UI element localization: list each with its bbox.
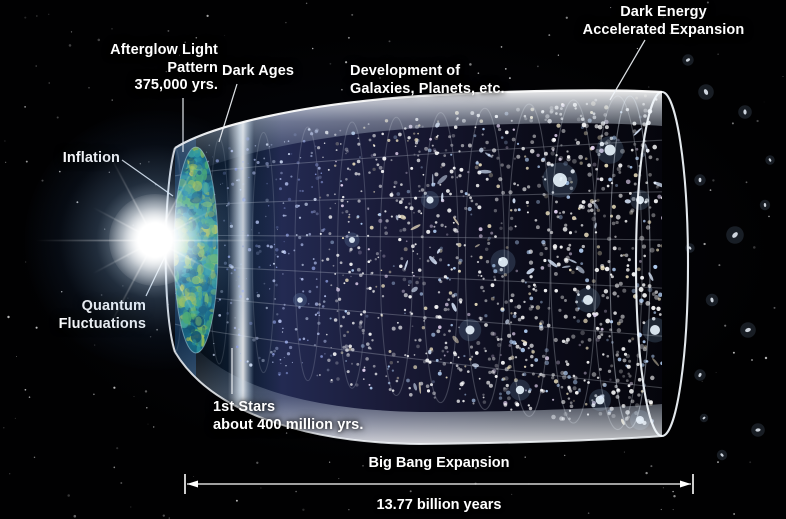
label-afterglow-light-pattern: Afterglow Light Pattern 375,000 yrs. (70, 42, 218, 95)
scale-bar-arrow (183, 473, 695, 495)
label-dark-energy-accelerated-expansion: Dark Energy Accelerated Expansion (556, 4, 771, 39)
label-development-of-galaxies: Development of Galaxies, Planets, etc. (350, 63, 505, 98)
label-first-stars: 1st Stars about 400 million yrs. (213, 399, 363, 434)
scale-bar-duration: 13.77 billion years (183, 497, 695, 513)
label-dark-ages: Dark Ages (222, 63, 294, 81)
big-bang-scale-bar: Big Bang Expansion 13.77 billion years (183, 455, 695, 517)
scale-bar-title: Big Bang Expansion (183, 455, 695, 471)
universe-timeline-figure: Afterglow Light Pattern 375,000 yrs. Dar… (0, 0, 786, 519)
